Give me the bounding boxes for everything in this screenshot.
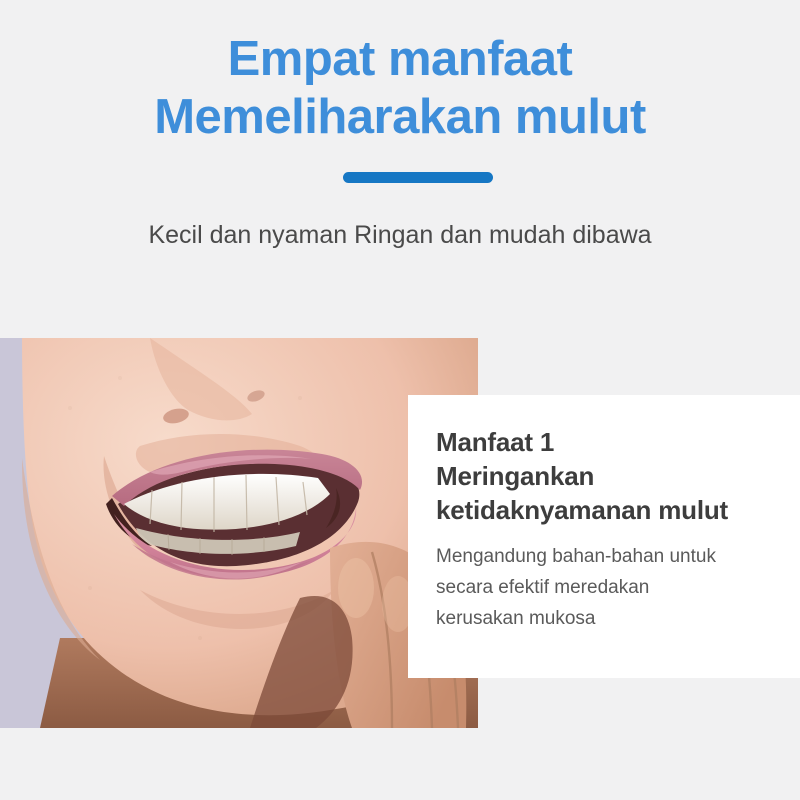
benefit-card-body-line-1: Mengandung bahan-bahan untuk bbox=[436, 541, 774, 572]
benefit-card: Manfaat 1 Meringankan ketidaknyamanan mu… bbox=[408, 395, 800, 678]
benefit-card-title-line-1: Manfaat 1 bbox=[436, 425, 774, 459]
benefit-card-title-line-3: ketidaknyamanan mulut bbox=[436, 493, 774, 527]
page-title-line-2: Memeliharakan mulut bbox=[0, 88, 800, 146]
benefit-card-body: Mengandung bahan-bahan untuk secara efek… bbox=[436, 541, 774, 634]
benefit-card-title-line-2: Meringankan bbox=[436, 459, 774, 493]
benefit-card-body-line-3: kerusakan mukosa bbox=[436, 603, 774, 634]
benefit-card-body-line-2: secara efektif meredakan bbox=[436, 572, 774, 603]
promo-page: Empat manfaat Memeliharakan mulut Kecil … bbox=[0, 0, 800, 800]
page-title: Empat manfaat Memeliharakan mulut bbox=[0, 30, 800, 146]
page-subtitle: Kecil dan nyaman Ringan dan mudah dibawa bbox=[0, 218, 800, 252]
benefit-card-title: Manfaat 1 Meringankan ketidaknyamanan mu… bbox=[436, 425, 774, 527]
face-illustration bbox=[0, 338, 478, 728]
page-title-line-1: Empat manfaat bbox=[228, 32, 573, 86]
title-divider bbox=[343, 172, 493, 183]
product-benefit-photo bbox=[0, 338, 478, 728]
